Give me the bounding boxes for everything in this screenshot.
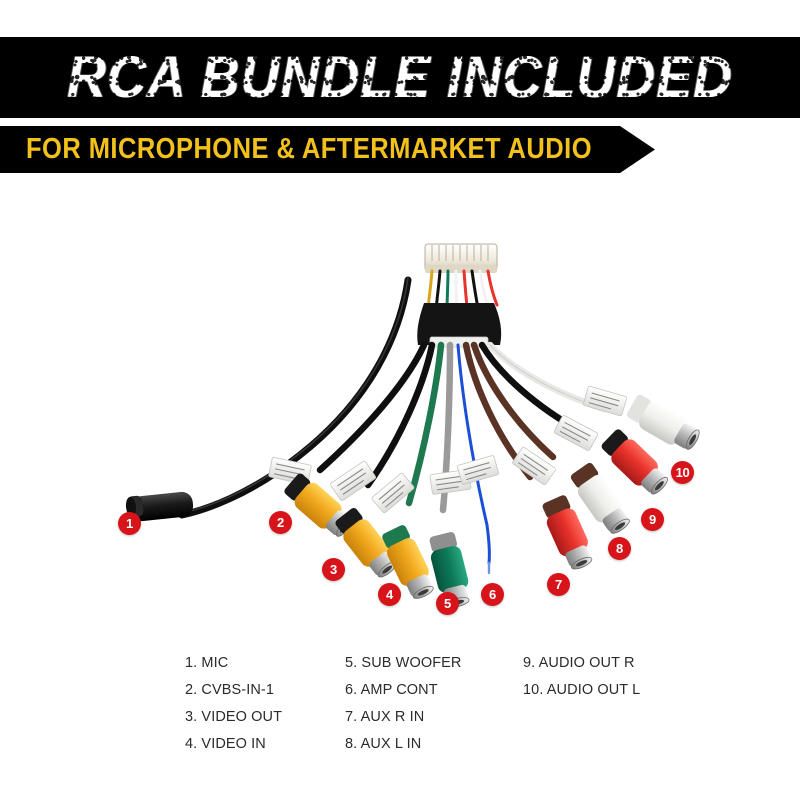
marker-label: 1 bbox=[126, 516, 133, 531]
legend-column-1: 1. MIC 2. CVBS-IN-1 3. VIDEO OUT 4. VIDE… bbox=[185, 650, 282, 758]
marker-label: 10 bbox=[676, 465, 690, 480]
marker-4: 4 bbox=[378, 583, 401, 606]
marker-label: 8 bbox=[616, 541, 623, 556]
harness-illustration bbox=[0, 185, 800, 655]
plug-housing bbox=[425, 244, 497, 273]
amp-control-wire-6 bbox=[487, 525, 489, 573]
legend-item-6: 6. AMP CONT bbox=[345, 677, 462, 704]
marker-3: 3 bbox=[322, 558, 345, 581]
subtitle-text: FOR MICROPHONE & AFTERMARKET AUDIO bbox=[26, 135, 592, 164]
marker-label: 6 bbox=[489, 587, 496, 602]
marker-label: 4 bbox=[386, 587, 393, 602]
marker-5: 5 bbox=[436, 592, 459, 615]
legend-item-5: 5. SUB WOOFER bbox=[345, 650, 462, 677]
legend-item-2: 2. CVBS-IN-1 bbox=[185, 677, 282, 704]
legend-item-3: 3. VIDEO OUT bbox=[185, 704, 282, 731]
marker-label: 2 bbox=[277, 515, 284, 530]
legend: 1. MIC 2. CVBS-IN-1 3. VIDEO OUT 4. VIDE… bbox=[0, 650, 800, 770]
legend-column-3: 9. AUDIO OUT R 10. AUDIO OUT L bbox=[523, 650, 640, 704]
harness-photo bbox=[0, 185, 800, 655]
legend-item-1: 1. MIC bbox=[185, 650, 282, 677]
marker-8: 8 bbox=[608, 537, 631, 560]
marker-10: 10 bbox=[671, 461, 694, 484]
legend-item-9: 9. AUDIO OUT R bbox=[523, 650, 640, 677]
legend-item-4: 4. VIDEO IN bbox=[185, 731, 282, 758]
marker-label: 5 bbox=[444, 596, 451, 611]
marker-2: 2 bbox=[269, 511, 292, 534]
legend-item-7: 7. AUX R IN bbox=[345, 704, 462, 731]
marker-7: 7 bbox=[547, 573, 570, 596]
page-title: RCA BUNDLE INCLUDED bbox=[67, 49, 733, 107]
title-banner: RCA BUNDLE INCLUDED bbox=[0, 37, 800, 118]
marker-6: 6 bbox=[481, 583, 504, 606]
marker-label: 9 bbox=[649, 512, 656, 527]
legend-item-8: 8. AUX L IN bbox=[345, 731, 462, 758]
marker-label: 7 bbox=[555, 577, 562, 592]
marker-1: 1 bbox=[118, 512, 141, 535]
marker-9: 9 bbox=[641, 508, 664, 531]
subtitle-banner: FOR MICROPHONE & AFTERMARKET AUDIO bbox=[0, 126, 655, 173]
cable-bundle-sleeve bbox=[417, 303, 501, 347]
marker-label: 3 bbox=[330, 562, 337, 577]
legend-item-10: 10. AUDIO OUT L bbox=[523, 677, 640, 704]
legend-column-2: 5. SUB WOOFER 6. AMP CONT 7. AUX R IN 8.… bbox=[345, 650, 462, 758]
